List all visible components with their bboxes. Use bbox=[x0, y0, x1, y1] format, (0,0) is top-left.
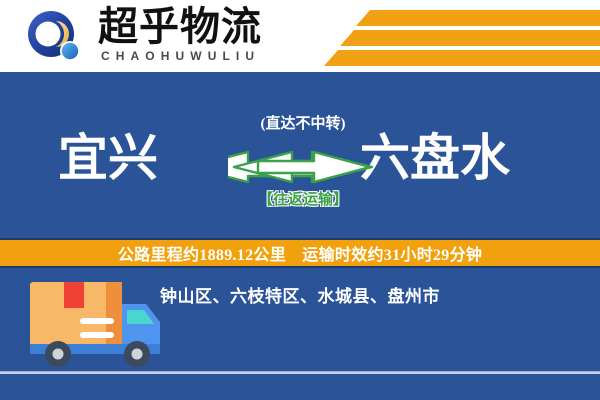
route-info-bar: 公路里程约1889.12公里 运输时效约31小时29分钟 bbox=[0, 238, 600, 268]
destination-city: 六盘水 bbox=[360, 132, 510, 184]
header-stripe-3 bbox=[324, 50, 600, 66]
logistics-route-banner: 超乎物流 CHAOHUWULIU 宜兴 六盘水 (直达不中转) 【往返运输】 公… bbox=[0, 0, 600, 400]
roundtrip-note: 【往返运输】 bbox=[6, 188, 600, 209]
banner-header: 超乎物流 CHAOHUWULIU bbox=[0, 0, 600, 72]
origin-city: 宜兴 bbox=[58, 132, 158, 184]
coverage-districts: 钟山区、六枝特区、水城县、盘州市 bbox=[160, 282, 440, 307]
banner-footer: 钟山区、六枝特区、水城县、盘州市 bbox=[0, 268, 600, 400]
double-headed-arrow-icon bbox=[228, 146, 376, 186]
circle-swoosh-logo-icon bbox=[26, 10, 88, 68]
brand-name: 超乎物流 bbox=[98, 6, 262, 48]
direct-shipping-note: (直达不中转) bbox=[6, 112, 600, 133]
route-info-text: 公路里程约1889.12公里 运输时效约31小时29分钟 bbox=[118, 241, 482, 265]
header-stripe-2 bbox=[340, 30, 600, 46]
delivery-truck-icon bbox=[18, 274, 178, 374]
brand-pinyin: CHAOHUWULIU bbox=[101, 49, 260, 63]
route-section: 宜兴 六盘水 (直达不中转) 【往返运输】 bbox=[0, 72, 600, 238]
header-stripe-1 bbox=[356, 10, 600, 26]
road-line bbox=[0, 371, 600, 374]
